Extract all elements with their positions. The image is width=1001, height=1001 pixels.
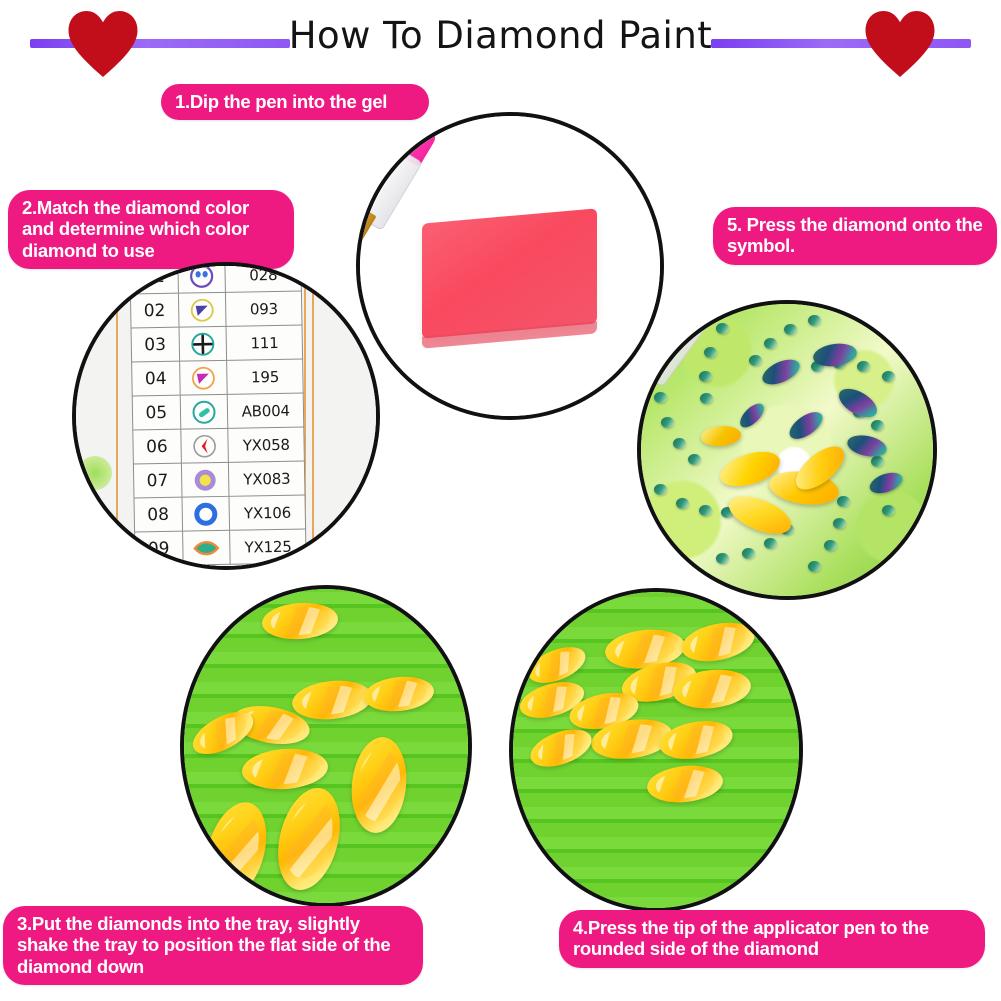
table-row: 02 093 <box>130 291 302 328</box>
gem-facets <box>681 672 743 707</box>
table-row: 04 195 <box>132 359 304 396</box>
chart-symbol-cell <box>182 530 230 565</box>
round-drill <box>833 518 846 529</box>
pen-picking-diamond-photo <box>509 588 803 912</box>
chart-number-cell: 08 <box>134 497 182 532</box>
chart-number-cell: 06 <box>133 429 181 464</box>
color-legend-table: 01 02802 09303 11104 19505 AB00406 YX058… <box>129 262 306 566</box>
step-2-label: 2.Match the diamond color and determine … <box>8 190 294 269</box>
table-row: 03 111 <box>131 325 303 362</box>
paper-edge-line <box>312 262 314 570</box>
round-drill <box>661 417 674 428</box>
eyes-circle-symbol <box>188 263 214 289</box>
chart-symbol-cell <box>180 428 228 463</box>
round-drill <box>882 371 895 382</box>
plus-symbol <box>190 331 216 357</box>
gem-facets <box>270 605 330 636</box>
table-row: 07 YX083 <box>133 461 305 498</box>
pressing-diamond-on-canvas-photo <box>637 300 937 600</box>
chart-code-cell: 195 <box>227 359 303 394</box>
chart-symbol-cell <box>177 262 225 293</box>
step-3-label: 3.Put the diamonds into the tray, slight… <box>3 906 423 985</box>
gel-pad-shape <box>422 208 597 338</box>
color-chart-photo: 01 02802 09303 11104 19505 AB00406 YX058… <box>72 262 380 570</box>
round-drill <box>824 540 837 551</box>
table-row: 05 AB004 <box>132 393 304 430</box>
paper-edge-line <box>116 262 118 570</box>
gem-facets <box>371 678 427 709</box>
round-drill <box>808 315 821 326</box>
chart-number-cell: 09 <box>135 531 183 566</box>
table-row: 01 028 <box>130 262 302 294</box>
photo-background: 01 02802 09303 11104 19505 AB00406 YX058… <box>76 266 376 566</box>
pen-dipping-in-gel-photo <box>356 112 664 420</box>
step-5-label: 5. Press the diamond onto the symbol. <box>713 207 997 265</box>
chart-symbol-cell <box>178 292 226 327</box>
round-drill <box>837 496 850 507</box>
chart-code-cell: YX083 <box>229 461 305 496</box>
round-drill <box>716 553 729 564</box>
gem-facets <box>251 752 318 787</box>
gem-facets <box>300 682 364 717</box>
round-drill <box>871 420 884 431</box>
round-drill <box>742 548 755 559</box>
round-drill <box>700 393 713 404</box>
gem-facets <box>355 747 403 824</box>
table-row: 06 YX058 <box>133 427 305 464</box>
chevron-left-symbol <box>191 433 217 459</box>
donut-symbol <box>192 467 218 493</box>
chart-code-cell: YX125 <box>230 529 306 564</box>
chart-code-cell: AB004 <box>228 393 304 428</box>
round-drill <box>654 484 667 495</box>
diamonds-in-tray-photo <box>180 585 472 907</box>
triangle-symbol <box>190 365 216 391</box>
chart-code-cell: 111 <box>226 325 302 360</box>
table-row: 08 YX106 <box>134 495 306 532</box>
chart-code-cell: 028 <box>225 262 301 292</box>
background-blur-spot <box>76 502 102 528</box>
background-blur-spot <box>78 456 112 490</box>
chart-code-cell: YX058 <box>228 427 304 462</box>
table-row: 09YX125 <box>135 529 307 566</box>
step-4-label: 4.Press the tip of the applicator pen to… <box>559 910 985 968</box>
header-banner: How To Diamond Paint <box>0 0 1001 78</box>
chart-number-cell: 01 <box>130 262 178 294</box>
chart-code-cell: YX106 <box>229 495 305 530</box>
round-drill <box>673 438 686 449</box>
chart-number-cell: 03 <box>131 327 179 362</box>
chart-symbol-cell <box>180 394 228 429</box>
ring-symbol <box>193 501 219 527</box>
chart-symbol-cell <box>182 496 230 531</box>
round-drill <box>699 371 712 382</box>
gem-facets <box>599 720 665 757</box>
step-1-label: 1.Dip the pen into the gel <box>161 84 429 120</box>
triangle-symbol <box>189 297 215 323</box>
chart-code-cell: 093 <box>226 291 302 326</box>
page-title: How To Diamond Paint <box>0 14 1001 57</box>
chart-number-cell: 05 <box>132 395 180 430</box>
chart-number-cell: 02 <box>130 293 178 328</box>
chart-number-cell: 07 <box>133 463 181 498</box>
chart-symbol-cell <box>181 462 229 497</box>
chart-symbol-cell <box>179 326 227 361</box>
round-drill <box>764 538 777 549</box>
oval-slash-symbol <box>191 399 217 425</box>
round-drill <box>676 498 689 509</box>
gem-facets <box>655 767 715 800</box>
chart-number-cell: 04 <box>132 361 180 396</box>
leaf-symbol <box>193 534 219 560</box>
chart-symbol-cell <box>179 360 227 395</box>
